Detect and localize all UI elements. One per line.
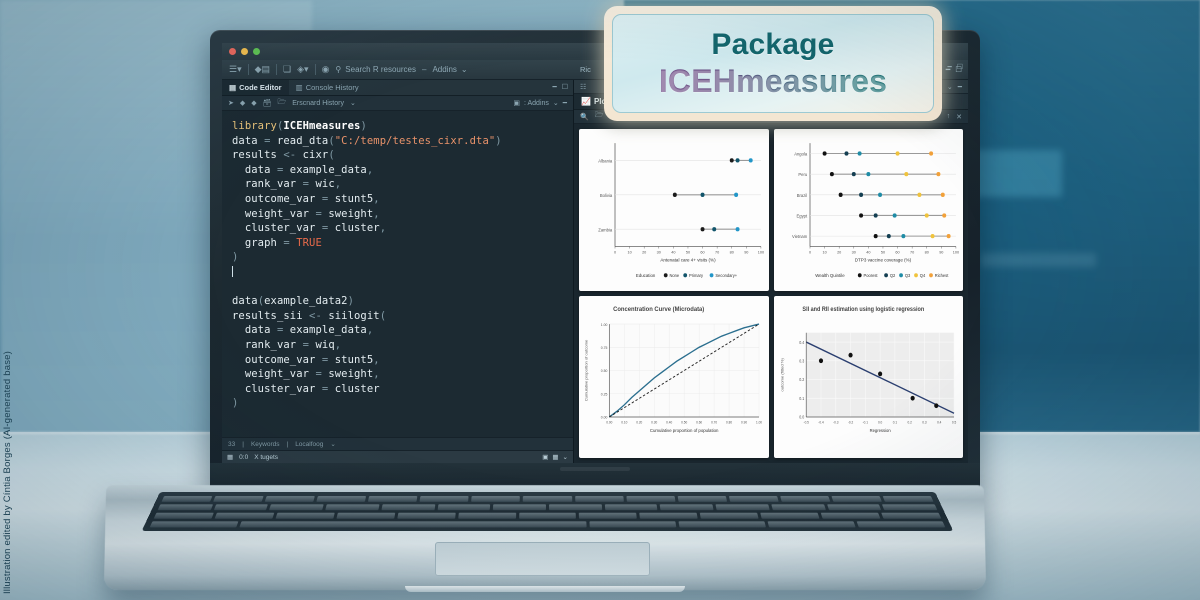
svg-text:Regression: Regression <box>869 428 891 433</box>
svg-text:Richest: Richest <box>934 273 948 278</box>
terminal-icon[interactable]: ▦ <box>227 453 233 461</box>
plots-icon: 📈 <box>581 97 591 106</box>
new-file-icon[interactable]: ◆▤ <box>255 65 270 74</box>
svg-text:0.75: 0.75 <box>601 346 608 350</box>
status-divider: | <box>242 441 244 448</box>
svg-text:Brazil: Brazil <box>796 193 806 198</box>
svg-text:0.0: 0.0 <box>799 415 804 419</box>
svg-text:0.80: 0.80 <box>726 420 732 424</box>
package-badge: Package ICEHmeasures <box>604 6 942 121</box>
svg-text:0.60: 0.60 <box>696 420 702 424</box>
code-line: outcome_var = stunt5, <box>232 192 573 207</box>
bottom-bar-left-label: 0:0 <box>239 454 248 461</box>
plots-tabstrip-window-controls: ━ ☐ <box>948 63 964 71</box>
code-line: rank_var = wic, <box>232 177 573 192</box>
svg-text:0.90: 0.90 <box>741 420 747 424</box>
svg-text:DTP3 vaccine coverage (%): DTP3 vaccine coverage (%) <box>854 258 911 263</box>
search-r-resources[interactable]: ⚲ Search R resources <box>335 65 416 74</box>
code-line: cluster_var = cluster, <box>232 221 573 236</box>
export-icon[interactable]: 🗁 <box>595 111 604 122</box>
code-line: library(ICEHmeasures) <box>232 119 573 134</box>
editor-toolbar: ➤ ◆ ◆ 🗃 🗁 Erscnard History ⌄ ▣ : Addins … <box>222 96 573 111</box>
svg-text:80: 80 <box>924 249 929 254</box>
code-line: weight_var = sweight, <box>232 207 573 222</box>
code-line: data = read_dta("C:/temp/testes_cixr.dta… <box>232 134 573 149</box>
forward-icon[interactable]: ◆ <box>251 99 256 107</box>
svg-text:50: 50 <box>686 249 691 254</box>
code-line: ) <box>232 250 573 265</box>
back-icon[interactable]: ◆ <box>240 99 245 107</box>
code-line: data(example_data2) <box>232 294 573 309</box>
svg-text:10: 10 <box>822 249 827 254</box>
svg-text:outcome (fitted %): outcome (fitted %) <box>780 357 784 391</box>
code-line <box>232 280 573 295</box>
status-localfoog[interactable]: Localfoog <box>295 441 323 448</box>
svg-text:70: 70 <box>715 249 720 254</box>
code-line: data = example_data, <box>232 323 573 338</box>
svg-text:Cumulative proportion of outco: Cumulative proportion of outcome <box>585 340 589 402</box>
svg-text:0.1: 0.1 <box>892 420 896 424</box>
svg-text:Education: Education <box>636 273 656 278</box>
svg-text:Poorest: Poorest <box>863 273 878 278</box>
chevron-down-icon: ⌄ <box>553 99 559 107</box>
code-line <box>232 265 573 280</box>
chevron-down-icon: ⌄ <box>563 453 568 461</box>
badge-title-package: Package <box>711 28 834 62</box>
minimize-editor-icon[interactable]: ━ <box>563 99 567 107</box>
svg-text:30: 30 <box>851 249 856 254</box>
svg-text:90: 90 <box>744 249 749 254</box>
toolbar-divider <box>276 64 277 75</box>
svg-text:0.2: 0.2 <box>799 378 804 382</box>
svg-text:Angola: Angola <box>794 151 808 156</box>
credit-wrapper: Illustration edited by Cíntia Borges (AI… <box>2 294 18 594</box>
svg-text:0.2: 0.2 <box>907 420 911 424</box>
chevron-down-icon: ⌄ <box>461 65 468 74</box>
svg-text:Q3: Q3 <box>904 273 910 278</box>
code-line: graph = TRUE <box>232 236 573 251</box>
svg-text:Cumulative proportion of popul: Cumulative proportion of population <box>650 428 719 433</box>
svg-text:Q2: Q2 <box>889 273 895 278</box>
toolbar-divider <box>315 64 316 75</box>
layout-icon[interactable]: ▣ <box>542 453 548 461</box>
code-line: rank_var = wiq, <box>232 338 573 353</box>
svg-text:0.40: 0.40 <box>666 420 672 424</box>
svg-text:40: 40 <box>866 249 871 254</box>
svg-text:30: 30 <box>657 249 662 254</box>
toolbar-divider <box>248 64 249 75</box>
svg-text:1.00: 1.00 <box>601 323 608 327</box>
svg-text:0.30: 0.30 <box>651 420 657 424</box>
svg-text:SII and RII estimation using l: SII and RII estimation using logistic re… <box>802 307 924 313</box>
run-icon[interactable]: ➤ <box>228 99 234 107</box>
svg-text:0.50: 0.50 <box>681 420 687 424</box>
svg-text:Concentration Curve (Microdata: Concentration Curve (Microdata) <box>613 306 704 313</box>
svg-text:1.00: 1.00 <box>756 420 762 424</box>
grid-icon[interactable]: ☷ <box>580 83 586 91</box>
svg-text:Secondary+: Secondary+ <box>715 273 737 278</box>
code-line: weight_var = sweight, <box>232 367 573 382</box>
bottom-bar-center-label: X tugets <box>254 454 278 461</box>
addins-menu[interactable]: Addins ⌄ <box>432 65 467 74</box>
svg-text:60: 60 <box>700 249 705 254</box>
svg-text:-0.2: -0.2 <box>847 420 853 424</box>
code-line: cluster_var = cluster <box>232 382 573 397</box>
maximize-pane-icon[interactable]: ☐ <box>957 63 963 71</box>
plots-grid: AlbaniaBoliviaZambia01020304050607080901… <box>574 124 968 463</box>
search-icon: ⚲ <box>335 65 341 74</box>
forward-history-label[interactable]: Erscnard History <box>292 100 344 107</box>
svg-text:0.3: 0.3 <box>922 420 926 424</box>
addins-label: Addins <box>432 65 456 74</box>
maximize-pane-icon[interactable]: ☐ <box>562 83 568 91</box>
svg-text:0.1: 0.1 <box>799 397 804 401</box>
plot-concentration-curve[interactable]: Concentration Curve (Microdata)0.000.250… <box>579 296 769 458</box>
illustration-credit: Illustration edited by Cíntia Borges (AI… <box>2 351 13 594</box>
editor-tabstrip: ▤ Code Editor ▥ Console History ━ ☐ <box>222 80 573 96</box>
laptop-hinge-notch <box>560 467 630 471</box>
file-icon: ▤ <box>229 83 236 92</box>
svg-text:100: 100 <box>758 249 765 254</box>
toolbar-dash: – <box>422 66 426 74</box>
editor-addins-label[interactable]: : Addins <box>524 100 549 107</box>
plots-pane-title: Ric <box>580 65 591 74</box>
bottom-bar-right: ▣ ▦ ⌄ <box>542 453 568 461</box>
panel-layout-icon[interactable]: ▣ <box>513 99 520 107</box>
svg-text:80: 80 <box>730 249 735 254</box>
svg-text:Zambia: Zambia <box>598 227 612 232</box>
print-icon[interactable]: ◉ <box>322 65 330 74</box>
status-divider: | <box>286 441 288 448</box>
code-text-area[interactable]: library(ICEHmeasures)data = read_dta("C:… <box>222 111 573 437</box>
minimize-icon[interactable]: ━ <box>958 83 962 91</box>
code-line: outcome_var = stunt5, <box>232 353 573 368</box>
save-file-icon[interactable]: 🗃 <box>263 99 272 107</box>
plots-pane-subtoolbar-right: ⌄ ━ <box>947 83 962 91</box>
chevron-down-icon: ⌄ <box>350 99 356 107</box>
laptop-keyboard <box>142 492 954 531</box>
open-file-icon[interactable]: ❏ <box>283 65 291 74</box>
svg-text:20: 20 <box>642 249 647 254</box>
plots-toolbar-right: ↑ ✕ <box>947 113 962 121</box>
svg-text:Antenatal care 4+ visits (%): Antenatal care 4+ visits (%) <box>660 258 716 263</box>
svg-text:0.4: 0.4 <box>937 420 941 424</box>
svg-text:None: None <box>669 273 679 278</box>
laptop-base-lip <box>405 586 685 592</box>
svg-text:-0.5: -0.5 <box>803 420 809 424</box>
folder-icon[interactable]: 🗁 <box>278 98 287 109</box>
laptop-trackpad <box>435 542 650 576</box>
editor-status-bar: 33 | Keywords | Localfoog ⌄ <box>222 437 573 450</box>
save-icon[interactable]: ◈▾ <box>297 65 308 74</box>
tab-console-history-label: Console History <box>306 83 359 92</box>
close-icon[interactable]: ✕ <box>956 113 962 121</box>
grid-icon[interactable]: ▦ <box>552 453 558 461</box>
svg-text:Peru: Peru <box>798 172 807 177</box>
svg-text:Vietnam: Vietnam <box>792 234 808 239</box>
minimize-pane-icon[interactable]: ━ <box>948 63 952 71</box>
menu-icon[interactable]: ☰▾ <box>229 65 242 74</box>
svg-text:0.3: 0.3 <box>799 359 804 363</box>
code-line: results_sii <- siilogit( <box>232 309 573 324</box>
code-line: ) <box>232 396 573 411</box>
svg-text:0: 0 <box>614 249 617 254</box>
svg-text:-0.4: -0.4 <box>818 420 824 424</box>
search-input[interactable]: Search R resources <box>345 65 416 74</box>
svg-text:0.00: 0.00 <box>606 420 612 424</box>
tab-code-editor-label: Code Editor <box>239 83 282 92</box>
editor-toolbar-right: ▣ : Addins ⌄ ━ <box>513 99 567 107</box>
plot-sii-rii-logistic[interactable]: SII and RII estimation using logistic re… <box>774 296 964 458</box>
package-badge-inner: Package ICEHmeasures <box>612 14 934 113</box>
up-icon[interactable]: ↑ <box>947 113 951 121</box>
plot-dtp3-dot-plot[interactable]: AngolaPeruBrazilEgyptVietnam010203040506… <box>774 129 964 291</box>
svg-text:-0.1: -0.1 <box>862 420 868 424</box>
tab-code-editor[interactable]: ▤ Code Editor <box>222 80 289 95</box>
editor-pane-window-controls: ━ ☐ <box>553 83 569 91</box>
svg-text:0.70: 0.70 <box>711 420 717 424</box>
svg-text:0.25: 0.25 <box>601 392 608 396</box>
svg-text:20: 20 <box>837 249 842 254</box>
line-number: 33 <box>228 441 235 448</box>
close-window-button[interactable] <box>229 48 236 55</box>
chevron-down-icon: ⌄ <box>330 440 335 448</box>
history-icon: ▥ <box>296 83 303 92</box>
svg-text:0.5: 0.5 <box>951 420 955 424</box>
svg-text:0.20: 0.20 <box>636 420 642 424</box>
svg-text:100: 100 <box>952 249 959 254</box>
svg-text:0.50: 0.50 <box>601 369 608 373</box>
svg-text:60: 60 <box>895 249 900 254</box>
minimize-window-button[interactable] <box>241 48 248 55</box>
svg-text:0.0: 0.0 <box>877 420 881 424</box>
tab-console-history[interactable]: ▥ Console History <box>289 80 366 95</box>
svg-text:Bolivia: Bolivia <box>600 193 613 198</box>
svg-text:Albania: Albania <box>598 158 612 163</box>
svg-text:0.10: 0.10 <box>621 420 627 424</box>
chevron-down-icon[interactable]: ⌄ <box>947 83 953 91</box>
svg-text:Q4: Q4 <box>919 273 925 278</box>
maximize-window-button[interactable] <box>253 48 260 55</box>
code-editor-pane: ▤ Code Editor ▥ Console History ━ ☐ ➤ ◆ <box>222 80 574 463</box>
status-keywords[interactable]: Keywords <box>251 441 280 448</box>
svg-text:0: 0 <box>808 249 811 254</box>
svg-text:0.00: 0.00 <box>601 415 608 419</box>
zoom-icon[interactable]: 🔍 <box>580 113 589 121</box>
text-caret <box>232 266 233 277</box>
minimize-pane-icon[interactable]: ━ <box>553 83 557 91</box>
code-line: results <- cixr( <box>232 148 573 163</box>
svg-text:90: 90 <box>939 249 944 254</box>
editor-bottom-bar: ▦ 0:0 X tugets ▣ ▦ ⌄ <box>222 450 573 463</box>
badge-title-icehmeasures: ICEHmeasures <box>659 63 887 100</box>
svg-text:70: 70 <box>910 249 915 254</box>
svg-text:50: 50 <box>880 249 885 254</box>
svg-text:Egypt: Egypt <box>796 213 807 218</box>
svg-text:0.4: 0.4 <box>799 341 805 345</box>
svg-text:40: 40 <box>671 249 676 254</box>
svg-text:Primary: Primary <box>689 273 704 278</box>
svg-text:10: 10 <box>627 249 632 254</box>
svg-text:-0.3: -0.3 <box>833 420 839 424</box>
svg-text:Wealth Quintile: Wealth Quintile <box>815 273 845 278</box>
code-line: data = example_data, <box>232 163 573 178</box>
plot-antenatal-dot-plot[interactable]: AlbaniaBoliviaZambia01020304050607080901… <box>579 129 769 291</box>
